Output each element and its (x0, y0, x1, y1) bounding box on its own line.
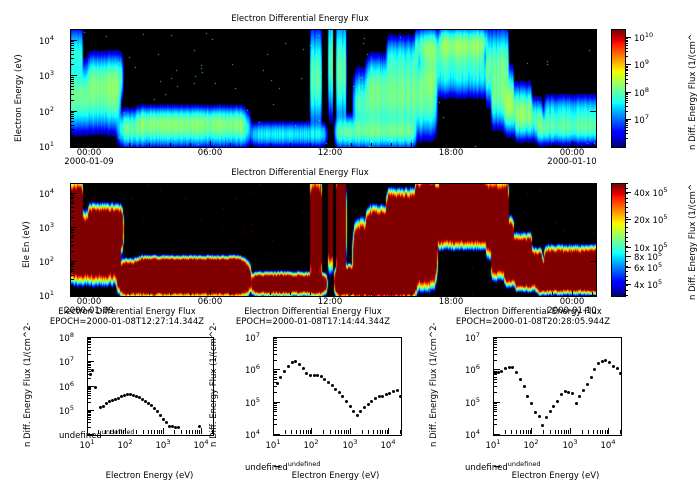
ytick-minor (274, 371, 277, 372)
ytick-minor (274, 386, 277, 387)
xtick-minor (550, 430, 551, 434)
xtick-minor (592, 292, 593, 295)
data-point (619, 372, 622, 375)
ytick-major-right (590, 146, 596, 147)
spectrogram-bottom-ylabel: Ele En (eV) (22, 221, 32, 268)
colorbar-tick-minor (625, 41, 628, 42)
data-point (363, 406, 366, 409)
ytick-minor (494, 354, 497, 355)
ytick-minor (274, 374, 277, 375)
xtick-minor (230, 292, 231, 295)
ytick-major (71, 193, 77, 194)
xtick-minor (285, 430, 286, 434)
ytick-major (274, 369, 280, 370)
spectrogram-bottom-title: Electron Differential Energy Flux (0, 168, 600, 178)
ytick-label: 106 (59, 380, 74, 393)
ytick-minor (494, 382, 497, 383)
spectrum-subtitle: EPOCH=2000-01-08T17:14:44.344Z (193, 317, 433, 327)
xtick-minor (351, 143, 352, 146)
ytick-major (88, 361, 94, 362)
xtick-minor (558, 430, 559, 434)
spectrogram-top-title: Electron Differential Energy Flux (0, 14, 600, 24)
ytick-minor (71, 195, 74, 196)
data-point (91, 369, 94, 372)
ytick-minor (71, 125, 74, 126)
data-point (374, 397, 377, 400)
xtick-minor (368, 430, 369, 434)
xtick-minor (195, 430, 196, 434)
spectrogram-top-colorbar-label: n Diff. Energy Flux (1/(cm^ (688, 34, 697, 150)
xtick-minor (157, 430, 158, 434)
ytick-minor (88, 344, 91, 345)
xtick-minor (308, 430, 309, 434)
ytick-label: 104 (39, 34, 54, 47)
data-point (578, 395, 581, 398)
data-point (385, 393, 388, 396)
xtick-minor (330, 292, 331, 295)
ytick-minor (71, 264, 74, 265)
ytick-minor (71, 285, 74, 286)
ytick-minor (71, 112, 74, 113)
xtick-minor (89, 143, 90, 146)
spectrogram-top-colorbar (611, 29, 626, 148)
colorbar-tick-minor (625, 98, 628, 99)
data-point (316, 374, 319, 377)
xtick-label: 102 (518, 438, 544, 451)
ytick-minor (71, 197, 74, 198)
spectrum-ylabel: n Diff. Energy Flux (1/(cm^2- (23, 322, 33, 447)
ytick-minor (71, 229, 74, 230)
xtick-minor (270, 292, 271, 295)
xtick-minor (582, 430, 583, 434)
colorbar-tick-minor (625, 217, 628, 218)
spectrogram-top-ylabel: Electron Energy (eV) (14, 54, 24, 142)
colorbar-tick-minor (625, 102, 628, 103)
xtick-minor (159, 430, 160, 434)
colorbar-tick-minor (625, 94, 628, 95)
ytick-minor (71, 41, 74, 42)
xtick-minor (270, 143, 271, 146)
ytick-major (88, 410, 94, 411)
spectrum-title: Electron Differential Energy Flux (413, 307, 653, 317)
figure-root: Electron Differential Energy Flux Electr… (0, 0, 697, 492)
xtick-minor (129, 143, 130, 146)
colorbar-tick-label: 20x 105 (634, 213, 668, 226)
ytick-minor (274, 347, 277, 348)
xtick-minor (532, 292, 533, 295)
ytick-minor (71, 114, 74, 115)
xtick-minor (572, 292, 573, 295)
ytick-minor (71, 211, 74, 212)
ytick-minor (494, 340, 497, 341)
xtick-minor (113, 430, 114, 434)
xtick-minor (391, 143, 392, 146)
ytick-label: undefinedundefined (245, 460, 320, 473)
ytick-minor (71, 77, 74, 78)
xtick-minor (348, 430, 349, 434)
xtick-minor (351, 292, 352, 295)
xtick-label: 102 (112, 438, 138, 451)
ytick-minor (88, 419, 91, 420)
xtick-minor (250, 143, 251, 146)
colorbar-tick-minor (625, 251, 628, 252)
ytick-minor (494, 338, 497, 339)
xtick-minor (296, 430, 297, 434)
xtick-minor (250, 292, 251, 295)
colorbar-tick-label: 4x 105 (634, 278, 662, 291)
xtick-minor (505, 430, 506, 434)
xtick-label: 18:00 (434, 148, 468, 158)
data-point (367, 403, 370, 406)
ytick-major (494, 434, 500, 435)
colorbar-tick-label: 109 (634, 58, 649, 71)
xtick-minor (512, 292, 513, 295)
xtick-label: 06:00 (193, 297, 227, 307)
ytick-minor (494, 419, 497, 420)
data-point (604, 359, 607, 362)
data-point (582, 389, 585, 392)
ytick-label: 104 (39, 187, 54, 200)
colorbar-tick-minor (625, 285, 628, 286)
colorbar-tick-minor (625, 100, 628, 101)
spectrum-plot-area[interactable] (493, 337, 622, 436)
ytick-minor (88, 422, 91, 423)
ytick-minor (71, 29, 74, 30)
ytick-minor (71, 50, 74, 51)
ytick-major (71, 75, 77, 76)
ytick-minor (88, 412, 91, 413)
data-point (500, 370, 503, 373)
ytick-label: 106 (245, 363, 260, 376)
data-point (508, 366, 511, 369)
xtick-label: 18:00 (434, 297, 468, 307)
data-point (523, 385, 526, 388)
ytick-minor (71, 201, 74, 202)
data-point (511, 366, 514, 369)
xtick-minor (105, 430, 106, 434)
ytick-minor (88, 365, 91, 366)
ytick-minor (494, 374, 497, 375)
xtick-minor (385, 430, 386, 434)
xtick-minor (516, 430, 517, 434)
xtick-major (350, 428, 351, 434)
colorbar-tick-minor (625, 266, 628, 267)
data-point (534, 411, 537, 414)
xtick-minor (148, 430, 149, 434)
ytick-minor (274, 415, 277, 416)
data-point (515, 371, 518, 374)
ytick-minor (71, 48, 74, 49)
colorbar-tick-minor (625, 261, 628, 262)
ytick-minor (494, 415, 497, 416)
xtick-minor (371, 292, 372, 295)
colorbar-tick-minor (625, 83, 628, 84)
xtick-minor (190, 292, 191, 295)
ytick-major-right (590, 295, 596, 296)
data-point (313, 374, 316, 377)
ytick-minor (71, 279, 74, 280)
ytick-minor (494, 386, 497, 387)
xtick-minor (362, 430, 363, 434)
xtick-label: 101 (480, 438, 506, 451)
xtick-minor (149, 143, 150, 146)
ytick-major (71, 146, 77, 147)
xtick-minor (154, 430, 155, 434)
xtick-minor (451, 292, 452, 295)
ytick-minor (274, 424, 277, 425)
xtick-minor (170, 143, 171, 146)
ytick-minor (494, 360, 497, 361)
colorbar-tick-minor (625, 202, 628, 203)
xtick-minor (335, 430, 336, 434)
ytick-minor (71, 232, 74, 233)
ytick-minor (71, 43, 74, 44)
xtick-minor (190, 143, 191, 146)
data-point (352, 410, 355, 413)
xtick-major (311, 428, 312, 434)
xtick-major (87, 428, 88, 434)
ytick-minor (494, 392, 497, 393)
xtick-minor (143, 430, 144, 434)
colorbar-tick-minor (625, 237, 628, 238)
data-point (94, 386, 97, 389)
ytick-minor (494, 371, 497, 372)
ytick-minor (88, 341, 91, 342)
xtick-date-label: 2000-01-09 (63, 157, 115, 167)
xtick-major (163, 428, 164, 434)
colorbar-tick-minor (625, 246, 628, 247)
ytick-minor (274, 419, 277, 420)
ytick-minor (88, 427, 91, 428)
xtick-minor (119, 430, 120, 434)
colorbar-tick-minor (625, 66, 628, 67)
xtick-major (570, 428, 571, 434)
data-point (165, 421, 168, 424)
colorbar-tick-minor (625, 40, 628, 41)
colorbar-tick-minor (625, 67, 628, 68)
data-point (571, 392, 574, 395)
colorbar-tick-minor (625, 106, 628, 107)
ytick-minor (494, 377, 497, 378)
ytick-minor (71, 230, 74, 231)
spectrum-ylabel: n Diff. Energy Flux (1/(cm^2- (209, 322, 219, 447)
xtick-major (608, 428, 609, 434)
xtick-minor (121, 430, 122, 434)
ytick-label: 103 (39, 221, 54, 234)
xtick-minor (338, 430, 339, 434)
ytick-minor (274, 407, 277, 408)
ytick-minor (494, 344, 497, 345)
ytick-minor (71, 81, 74, 82)
colorbar-tick-minor (625, 227, 628, 228)
data-point (349, 405, 352, 408)
colorbar-tick-minor (625, 127, 628, 128)
spectrum-plot-area[interactable] (87, 337, 214, 436)
colorbar-tick-minor (625, 45, 628, 46)
xtick-minor (310, 292, 311, 295)
xtick-minor (109, 143, 110, 146)
colorbar-tick-minor (625, 207, 628, 208)
ytick-minor (88, 374, 91, 375)
xtick-minor (528, 430, 529, 434)
xtick-minor (291, 430, 292, 434)
data-point (519, 378, 522, 381)
xtick-minor (174, 430, 175, 434)
spectrogram-bottom-plot[interactable] (70, 183, 597, 297)
xtick-minor (526, 430, 527, 434)
ytick-minor (71, 94, 74, 95)
ytick-minor (71, 251, 74, 252)
spectrum-plot-area[interactable] (273, 337, 402, 436)
ytick-label: 101 (39, 289, 54, 302)
colorbar-tick-minor (625, 75, 628, 76)
ytick-minor (71, 83, 74, 84)
colorbar-tick-minor (625, 193, 628, 194)
xtick-minor (602, 430, 603, 434)
data-point (309, 374, 312, 377)
xtick-minor (543, 430, 544, 434)
xtick-minor (373, 430, 374, 434)
xtick-minor (605, 430, 606, 434)
ytick-minor (71, 269, 74, 270)
colorbar-tick-minor (625, 280, 628, 281)
colorbar-tick-minor (625, 56, 628, 57)
ytick-minor (71, 235, 74, 236)
ytick-minor (71, 54, 74, 55)
xtick-minor (181, 430, 182, 434)
data-point (556, 400, 559, 403)
xtick-minor (377, 430, 378, 434)
xtick-minor (552, 143, 553, 146)
spectrogram-top-plot[interactable] (70, 29, 597, 148)
data-point (538, 415, 541, 418)
ytick-minor (71, 275, 74, 276)
data-point (334, 388, 337, 391)
ytick-minor (88, 347, 91, 348)
xtick-label: 104 (375, 438, 401, 451)
xtick-label: 102 (298, 438, 324, 451)
ytick-label: 104 (245, 428, 260, 441)
xtick-minor (572, 143, 573, 146)
ytick-minor (71, 121, 74, 122)
data-point (378, 395, 381, 398)
ytick-label: 105 (245, 396, 260, 409)
ytick-minor (274, 342, 277, 343)
xtick-label: 12:00 (313, 297, 347, 307)
ytick-minor (88, 350, 91, 351)
spectrum-ylabel: n Diff. Energy Flux (1/(cm^2- (429, 322, 439, 447)
colorbar-tick-minor (625, 125, 628, 126)
ytick-major (274, 337, 280, 338)
colorbar-tick-minor (625, 256, 628, 257)
xtick-minor (290, 292, 291, 295)
data-point (356, 414, 359, 417)
ytick-label: 105 (465, 396, 480, 409)
ytick-minor (71, 45, 74, 46)
colorbar-tick (625, 219, 631, 220)
data-point (105, 402, 108, 405)
ytick-minor (71, 263, 74, 264)
xtick-minor (116, 430, 117, 434)
ytick-minor (494, 403, 497, 404)
xtick-minor (186, 430, 187, 434)
data-point (504, 367, 507, 370)
ytick-minor (274, 405, 277, 406)
data-point (593, 368, 596, 371)
ytick-minor (274, 377, 277, 378)
ytick-label: 103 (39, 69, 54, 82)
xtick-minor (310, 143, 311, 146)
data-point (177, 426, 180, 429)
xtick-minor (330, 143, 331, 146)
xtick-minor (592, 143, 593, 146)
ytick-minor (88, 417, 91, 418)
data-point (392, 390, 395, 393)
ytick-minor (274, 360, 277, 361)
spectrogram-bottom-colorbar-label: n Diff. Energy Flux (1/(cm^ (688, 184, 697, 300)
xtick-major (125, 428, 126, 434)
ytick-minor (88, 391, 91, 392)
data-point (327, 381, 330, 384)
data-point (345, 400, 348, 403)
ytick-minor (71, 266, 74, 267)
data-point (545, 416, 548, 419)
ytick-label: 102 (39, 255, 54, 268)
colorbar-tick-minor (625, 121, 628, 122)
ytick-label: 106 (465, 363, 480, 376)
xtick-minor (411, 292, 412, 295)
xtick-label: 104 (595, 438, 621, 451)
ytick-minor (71, 198, 74, 199)
ytick-minor (71, 135, 74, 136)
xtick-minor (341, 430, 342, 434)
ytick-minor (71, 207, 74, 208)
data-point (283, 370, 286, 373)
xtick-minor (330, 430, 331, 434)
data-point (381, 395, 384, 398)
data-point (156, 410, 159, 413)
xtick-minor (161, 430, 162, 434)
data-point (305, 372, 308, 375)
data-point (162, 418, 165, 421)
xtick-minor (491, 143, 492, 146)
data-point (526, 395, 529, 398)
ytick-minor (88, 364, 91, 365)
xtick-minor (230, 143, 231, 146)
ytick-minor (274, 350, 277, 351)
xtick-minor (568, 430, 569, 434)
xtick-major (273, 428, 274, 434)
xtick-minor (98, 430, 99, 434)
data-point (541, 424, 544, 427)
data-point (102, 405, 105, 408)
colorbar-tick-minor (625, 198, 628, 199)
colorbar-tick-minor (625, 123, 628, 124)
ytick-minor (71, 118, 74, 119)
data-point (287, 365, 290, 368)
xtick-minor (400, 430, 401, 434)
xtick-label: 101 (260, 438, 286, 451)
data-point (341, 395, 344, 398)
ytick-label: 107 (245, 331, 260, 344)
xtick-minor (210, 292, 211, 295)
xtick-minor (210, 143, 211, 146)
colorbar-tick-minor (625, 133, 628, 134)
colorbar-tick-minor (625, 73, 628, 74)
ytick-major-right (590, 193, 596, 194)
data-point (399, 395, 402, 398)
data-point (567, 391, 570, 394)
